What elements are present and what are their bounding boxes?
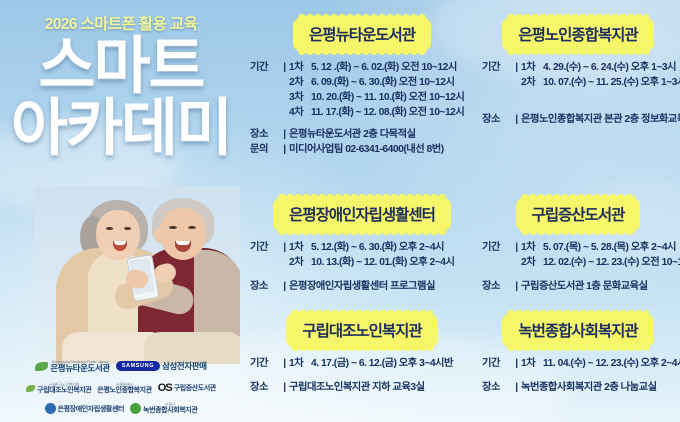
sponsor-nokbeon-social-welfare-logo: 은평구 녹번종합사회복지관 bbox=[130, 403, 197, 414]
samsung-badge-icon: SAMSUNG bbox=[116, 361, 160, 371]
leaf-icon bbox=[26, 385, 35, 392]
period-label: 기간 bbox=[250, 356, 280, 371]
divider: | bbox=[280, 240, 289, 255]
period-seq: 1차 bbox=[521, 356, 543, 371]
period-seq: 1차 bbox=[521, 60, 543, 75]
divider: | bbox=[512, 356, 521, 371]
period-value: 11. 17.(화) ~ 12. 08.(화) 오전 10~12시 bbox=[311, 105, 478, 120]
period-row: 2차10. 07.(수) ~ 11. 25.(수) 오후 1~3시 bbox=[482, 75, 678, 90]
period-row: 기간|1차4. 29.(수) ~ 6. 24.(수) 오후 1~3시 bbox=[482, 60, 678, 75]
period-row: 2차12. 02.(수) ~ 12. 23.(수) 오전 10~12시 bbox=[482, 255, 678, 270]
info-card-eunpyeong-senior-welfare-center: 은평노인종합복지관 기간|1차4. 29.(수) ~ 6. 24.(수) 오후 … bbox=[478, 18, 678, 127]
divider: | bbox=[512, 380, 521, 395]
info-card-daejo-senior-welfare-center: 구립대조노인복지관 기간|1차4. 17.(금) ~ 6. 12.(금) 오후 … bbox=[246, 314, 478, 395]
period-seq: 2차 bbox=[521, 75, 543, 90]
card-title-badge: 은평노인종합복지관 bbox=[504, 18, 651, 51]
divider: | bbox=[280, 142, 289, 157]
divider: | bbox=[512, 60, 521, 75]
period-row: 2차6. 09.(화) ~ 6. 30.(화) 오전 10~12시 bbox=[250, 75, 478, 90]
period-row: 기간|1차5. 07.(목) ~ 5. 28.(목) 오후 2~4시 bbox=[482, 240, 678, 255]
place-value: 은평뉴타운도서관 2층 다목적실 bbox=[289, 127, 478, 142]
period-seq: 2차 bbox=[521, 255, 543, 270]
period-value: 4. 29.(수) ~ 6. 24.(수) 오후 1~3시 bbox=[543, 60, 678, 75]
place-row: 장소|은평장애인자립생활센터 프로그램실 bbox=[250, 279, 478, 294]
place-label: 장소 bbox=[250, 279, 280, 294]
poster-root: 2026 스마트폰 활용 교육 스마트 아카데미 Eu bbox=[0, 0, 680, 422]
place-row: 장소|은평노인종합복지관 본관 2층 정보화교육1실 bbox=[482, 112, 678, 127]
sponsor-samsung-logo: SAMSUNG 삼성전자판매 bbox=[116, 360, 207, 372]
info-card-eunpyeong-newtown-library: 은평뉴타운도서관 기간|1차5. 12 .(화) ~ 6. 02.(화) 오전 … bbox=[246, 18, 478, 157]
info-card-jeungsan-library: 구립증산도서관 기간|1차5. 07.(목) ~ 5. 28.(목) 오후 2~… bbox=[478, 198, 678, 294]
place-row: 장소|녹번종합사회복지관 2층 나눔교실 bbox=[482, 380, 678, 395]
period-seq: 1차 bbox=[289, 60, 311, 75]
period-row: 기간|1차4. 17.(금) ~ 6. 12.(금) 오후 3~4시반 bbox=[250, 356, 478, 371]
place-value: 구립대조노인복지관 지하 교육3실 bbox=[289, 380, 478, 395]
place-value: 은평장애인자립생활센터 프로그램실 bbox=[289, 279, 478, 294]
sponsor-label: 구립증산도서관 bbox=[174, 383, 216, 393]
circle-icon bbox=[45, 403, 56, 414]
card-title-badge: 은평장애인자립생활센터 bbox=[275, 198, 449, 231]
inquiry-value: 미디어사업팀 02-6341-6400(내선 8번) bbox=[289, 142, 478, 157]
sponsor-eunpyeong-independent-living-logo: 은평장애인자립생활센터 bbox=[45, 403, 124, 414]
period-seq: 1차 bbox=[289, 356, 311, 371]
period-value: 5. 12.(화) ~ 6. 30.(화) 오후 2~4시 bbox=[311, 240, 478, 255]
period-row: 3차10. 20.(화) ~ 11. 10.(화) 오전 10~12시 bbox=[250, 90, 478, 105]
period-row: 기간|1차5. 12.(화) ~ 6. 30.(화) 오후 2~4시 bbox=[250, 240, 478, 255]
period-value: 6. 09.(화) ~ 6. 30.(화) 오전 10~12시 bbox=[311, 75, 478, 90]
poster-eyebrow: 2026 스마트폰 활용 교육 bbox=[0, 12, 242, 34]
period-seq: 1차 bbox=[289, 240, 311, 255]
card-title-badge: 구립증산도서관 bbox=[518, 198, 639, 231]
inquiry-row: 문의|미디어사업팀 02-6341-6400(내선 8번) bbox=[250, 142, 478, 157]
place-value: 녹번종합사회복지관 2층 나눔교실 bbox=[521, 380, 678, 395]
inquiry-label: 문의 bbox=[250, 142, 280, 157]
period-value: 12. 02.(수) ~ 12. 23.(수) 오전 10~12시 bbox=[543, 255, 680, 270]
period-value: 10. 07.(수) ~ 11. 25.(수) 오후 1~3시 bbox=[543, 75, 680, 90]
period-label: 기간 bbox=[482, 240, 512, 255]
period-seq: 3차 bbox=[289, 90, 311, 105]
period-row: 4차11. 17.(화) ~ 12. 08.(화) 오전 10~12시 bbox=[250, 105, 478, 120]
period-seq: 2차 bbox=[289, 75, 311, 90]
place-row: 장소|구립대조노인복지관 지하 교육3실 bbox=[250, 380, 478, 395]
period-label: 기간 bbox=[250, 60, 280, 75]
period-seq: 2차 bbox=[289, 255, 311, 270]
place-label: 장소 bbox=[250, 127, 280, 142]
sponsor-label: 삼성전자판매 bbox=[162, 360, 207, 372]
period-value: 10. 20.(화) ~ 11. 10.(화) 오전 10~12시 bbox=[311, 90, 478, 105]
divider: | bbox=[512, 279, 521, 294]
poster-left-panel: 2026 스마트폰 활용 교육 스마트 아카데미 Eu bbox=[0, 0, 242, 422]
period-label: 기간 bbox=[482, 356, 512, 371]
sponsor-label: 은평노인종합복지관 bbox=[97, 387, 151, 394]
divider: | bbox=[280, 380, 289, 395]
sponsor-label: 은평뉴타운도서관 bbox=[50, 364, 109, 373]
poster-title-line1: 스마트 bbox=[0, 36, 242, 98]
place-label: 장소 bbox=[250, 380, 280, 395]
place-value: 구립증산도서관 1층 문화교육실 bbox=[521, 279, 678, 294]
period-value: 10. 13.(화) ~ 12. 01.(화) 오후 2~4시 bbox=[311, 255, 478, 270]
divider: | bbox=[512, 240, 521, 255]
period-label: 기간 bbox=[250, 240, 280, 255]
card-title-badge: 은평뉴타운도서관 bbox=[295, 18, 429, 51]
info-card-eunpyeong-independent-living-center: 은평장애인자립생활센터 기간|1차5. 12.(화) ~ 6. 30.(화) 오… bbox=[246, 198, 478, 294]
place-label: 장소 bbox=[482, 112, 512, 127]
period-seq: 4차 bbox=[289, 105, 311, 120]
period-value: 5. 12 .(화) ~ 6. 02.(화) 오전 10~12시 bbox=[311, 60, 478, 75]
poster-info-panel: 은평뉴타운도서관 기간|1차5. 12 .(화) ~ 6. 02.(화) 오전 … bbox=[242, 0, 680, 422]
sponsor-daejo-senior-welfare-logo: (사)한국노인복지회 구립대조노인복지관 bbox=[26, 383, 91, 394]
sponsor-label: 은평장애인자립생활센터 bbox=[58, 404, 124, 414]
place-label: 장소 bbox=[482, 279, 512, 294]
place-row: 장소|구립증산도서관 1층 문화교육실 bbox=[482, 279, 678, 294]
divider: | bbox=[280, 279, 289, 294]
sponsor-jeungsan-library-logo: OЅ 구립증산도서관 bbox=[158, 382, 216, 394]
divider: | bbox=[280, 356, 289, 371]
leaf-icon bbox=[35, 362, 48, 371]
period-value: 4. 17.(금) ~ 6. 12.(금) 오후 3~4시반 bbox=[311, 356, 478, 371]
card-title-badge: 구립대조노인복지관 bbox=[288, 314, 435, 347]
period-value: 5. 07.(목) ~ 5. 28.(목) 오후 2~4시 bbox=[543, 240, 678, 255]
om-icon: OЅ bbox=[158, 382, 172, 394]
period-seq: 1차 bbox=[521, 240, 543, 255]
divider: | bbox=[280, 60, 289, 75]
divider: | bbox=[280, 127, 289, 142]
period-row: 기간|1차11. 04.(수) ~ 12. 23.(수) 오후 2~4시 bbox=[482, 356, 678, 371]
period-row: 기간|1차5. 12 .(화) ~ 6. 02.(화) 오전 10~12시 bbox=[250, 60, 478, 75]
elderly-couple-photo bbox=[34, 186, 240, 364]
divider: | bbox=[512, 112, 521, 127]
sponsor-eunpyeong-senior-welfare-logo: 서울특별시 은평노인종합복지관 bbox=[97, 383, 151, 394]
poster-title-line2: 아카데미 bbox=[0, 98, 242, 160]
place-label: 장소 bbox=[482, 380, 512, 395]
period-row: 2차10. 13.(화) ~ 12. 01.(화) 오후 2~4시 bbox=[250, 255, 478, 270]
period-value: 11. 04.(수) ~ 12. 23.(수) 오후 2~4시 bbox=[543, 356, 680, 371]
place-value: 은평노인종합복지관 본관 2층 정보화교육1실 bbox=[521, 112, 680, 127]
sponsor-label: 구립대조노인복지관 bbox=[37, 387, 91, 394]
place-row: 장소|은평뉴타운도서관 2층 다목적실 bbox=[250, 127, 478, 142]
info-card-nokbeon-social-welfare-center: 녹번종합사회복지관 기간|1차11. 04.(수) ~ 12. 23.(수) 오… bbox=[478, 314, 678, 395]
period-label: 기간 bbox=[482, 60, 512, 75]
sponsor-eunpyeong-newtown-library-logo: Eunpyeong Newtown Public Library 은평뉴타운도서… bbox=[35, 360, 109, 373]
card-title-badge: 녹번종합사회복지관 bbox=[504, 314, 651, 347]
sponsor-logo-strip: Eunpyeong Newtown Public Library 은평뉴타운도서… bbox=[0, 360, 242, 422]
green-circle-icon bbox=[130, 403, 141, 414]
sponsor-label: 녹번종합사회복지관 bbox=[143, 407, 197, 414]
